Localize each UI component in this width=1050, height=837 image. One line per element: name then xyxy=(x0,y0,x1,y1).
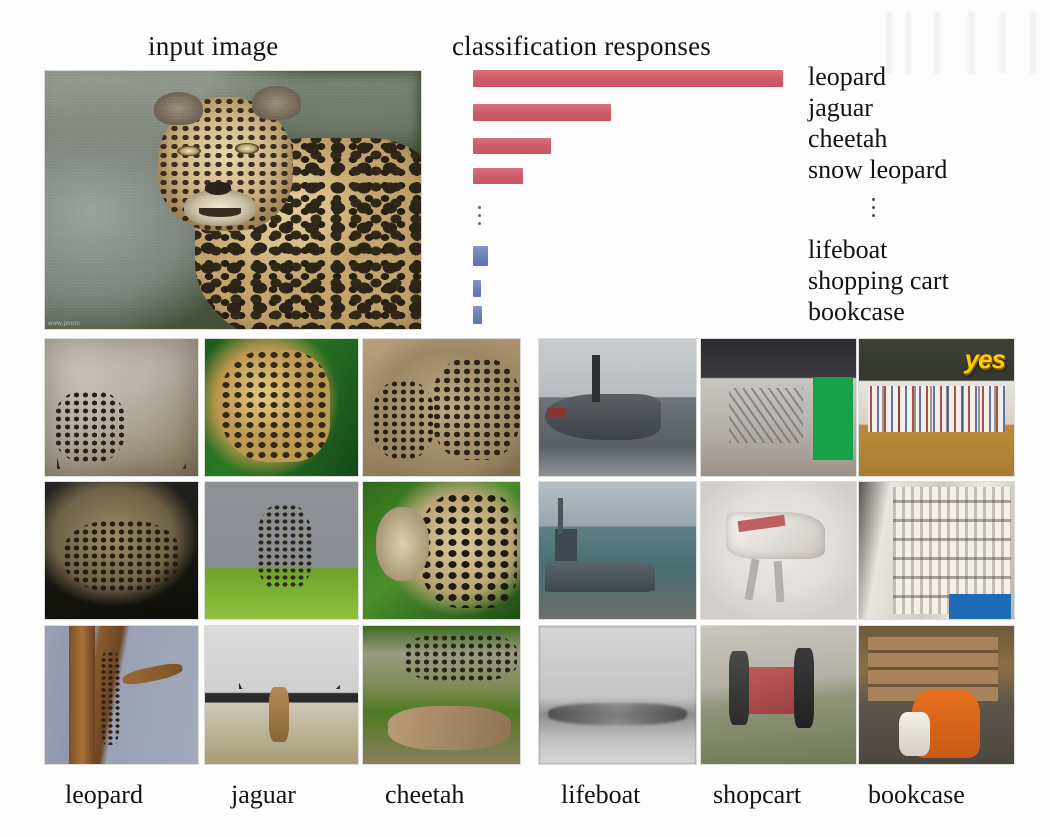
caption-cheetah: cheetah xyxy=(385,780,464,810)
caption-leopard: leopard xyxy=(65,780,143,810)
caption-bookcase: bookcase xyxy=(868,780,965,810)
category-caption-row: leopardjaguarcheetahlifeboatshopcartbook… xyxy=(0,0,1050,837)
caption-lifeboat: lifeboat xyxy=(561,780,640,810)
caption-shopcart: shopcart xyxy=(713,780,801,810)
caption-jaguar: jaguar xyxy=(231,780,296,810)
figure-root: input image classification responses www… xyxy=(0,0,1050,837)
